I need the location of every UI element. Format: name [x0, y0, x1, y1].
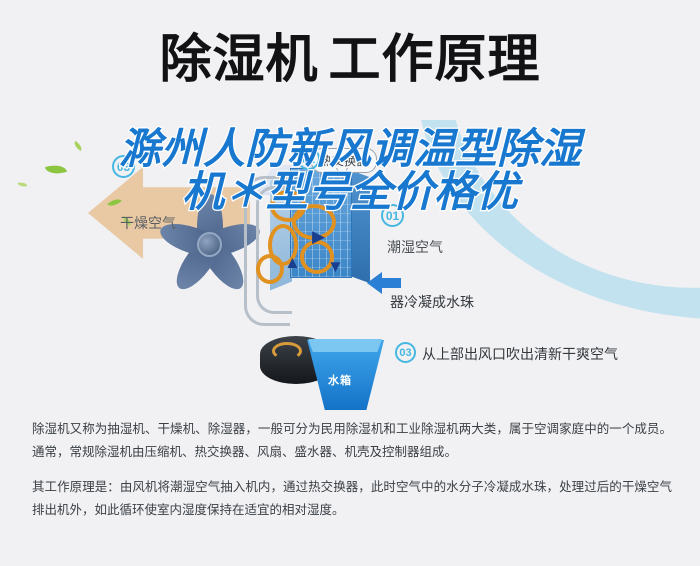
- dehumidifier-principle-diagram: ▶ ▲ ▼ 水箱 热交换器 03 02 01 03 干燥空气 潮湿空气 器冷凝成…: [0, 120, 700, 410]
- callout-pointer-icon: [336, 168, 348, 179]
- humid-air-label: 潮湿空气: [387, 237, 443, 257]
- flow-arrow-icon: ▶: [312, 228, 325, 245]
- water-tank-label: 水箱: [328, 372, 352, 388]
- refrigerant-coils: [242, 180, 372, 300]
- page-title-secondary: 工作原理: [329, 31, 541, 89]
- paragraph-1: 除湿机又称为抽湿机、干燥机、除湿器，一般可分为民用除湿机和工业除湿机两大类，属于…: [32, 418, 672, 464]
- page-title: 除湿机工作原理: [159, 34, 540, 86]
- page-header: 除湿机工作原理: [0, 0, 700, 120]
- page-title-primary: 除湿机: [159, 31, 318, 89]
- leaf-icon: [72, 141, 84, 151]
- step-badge-03: 03: [112, 155, 135, 178]
- article-body: 除湿机又称为抽湿机、干燥机、除湿器，一般可分为民用除湿机和工业除湿机两大类，属于…: [32, 418, 672, 523]
- heat-exchanger-callout-label: 热交换器: [320, 154, 368, 168]
- paragraph-2: 其工作原理是：由风机将潮湿空气抽入机内，通过热交换器，此时空气中的水分子冷凝成水…: [32, 476, 672, 522]
- step-badge-02: 02: [297, 147, 320, 170]
- air-intake-arrow-tail: [381, 278, 401, 288]
- step-3-text: 从上部出风口吹出清新干爽空气: [422, 344, 618, 364]
- flow-arrow-icon: ▲: [284, 254, 301, 271]
- air-intake-arrow-icon: [367, 272, 382, 294]
- compressor-coil-highlight: [272, 342, 302, 360]
- step-badge-01: 01: [381, 204, 404, 227]
- step-badge-03-bottom: 03: [395, 342, 416, 363]
- water-tank-lip: [306, 339, 382, 352]
- dry-air-label: 干燥空气: [120, 213, 176, 233]
- leaf-icon: [45, 161, 67, 178]
- step-2-text: 器冷凝成水珠: [390, 292, 474, 312]
- leaf-icon: [18, 181, 28, 187]
- flow-arrow-icon: ▼: [327, 258, 344, 275]
